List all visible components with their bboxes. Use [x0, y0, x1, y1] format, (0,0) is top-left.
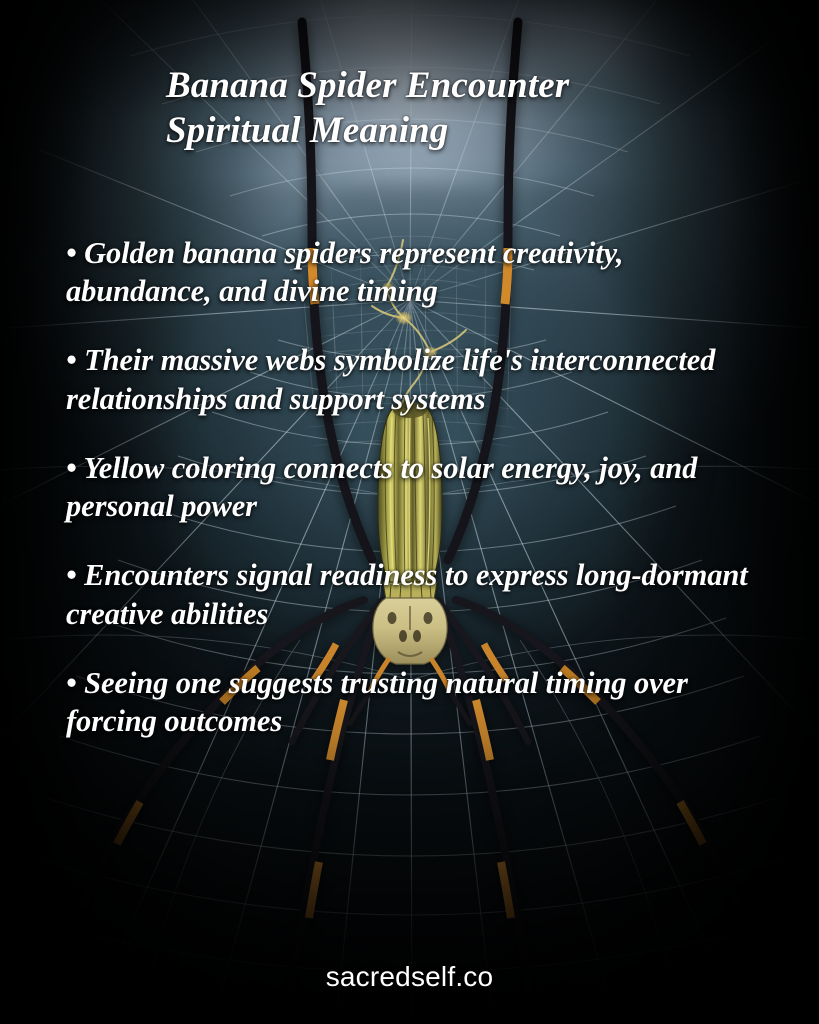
poster-content: Banana Spider Encounter Spiritual Meanin… [0, 0, 819, 1024]
list-item: • Their massive webs symbolize life's in… [66, 341, 766, 418]
site-watermark: sacredself.co [0, 960, 819, 994]
list-item: • Golden banana spiders represent creati… [66, 234, 766, 311]
list-item: • Yellow coloring connects to solar ener… [66, 449, 766, 526]
list-item: • Encounters signal readiness to express… [66, 556, 766, 633]
bullet-list: • Golden banana spiders represent creati… [66, 203, 766, 741]
list-item: • Seeing one suggests trusting natural t… [66, 664, 766, 741]
spiritual-meaning-poster: Banana Spider Encounter Spiritual Meanin… [0, 0, 819, 1024]
page-title: Banana Spider Encounter Spiritual Meanin… [166, 63, 596, 153]
